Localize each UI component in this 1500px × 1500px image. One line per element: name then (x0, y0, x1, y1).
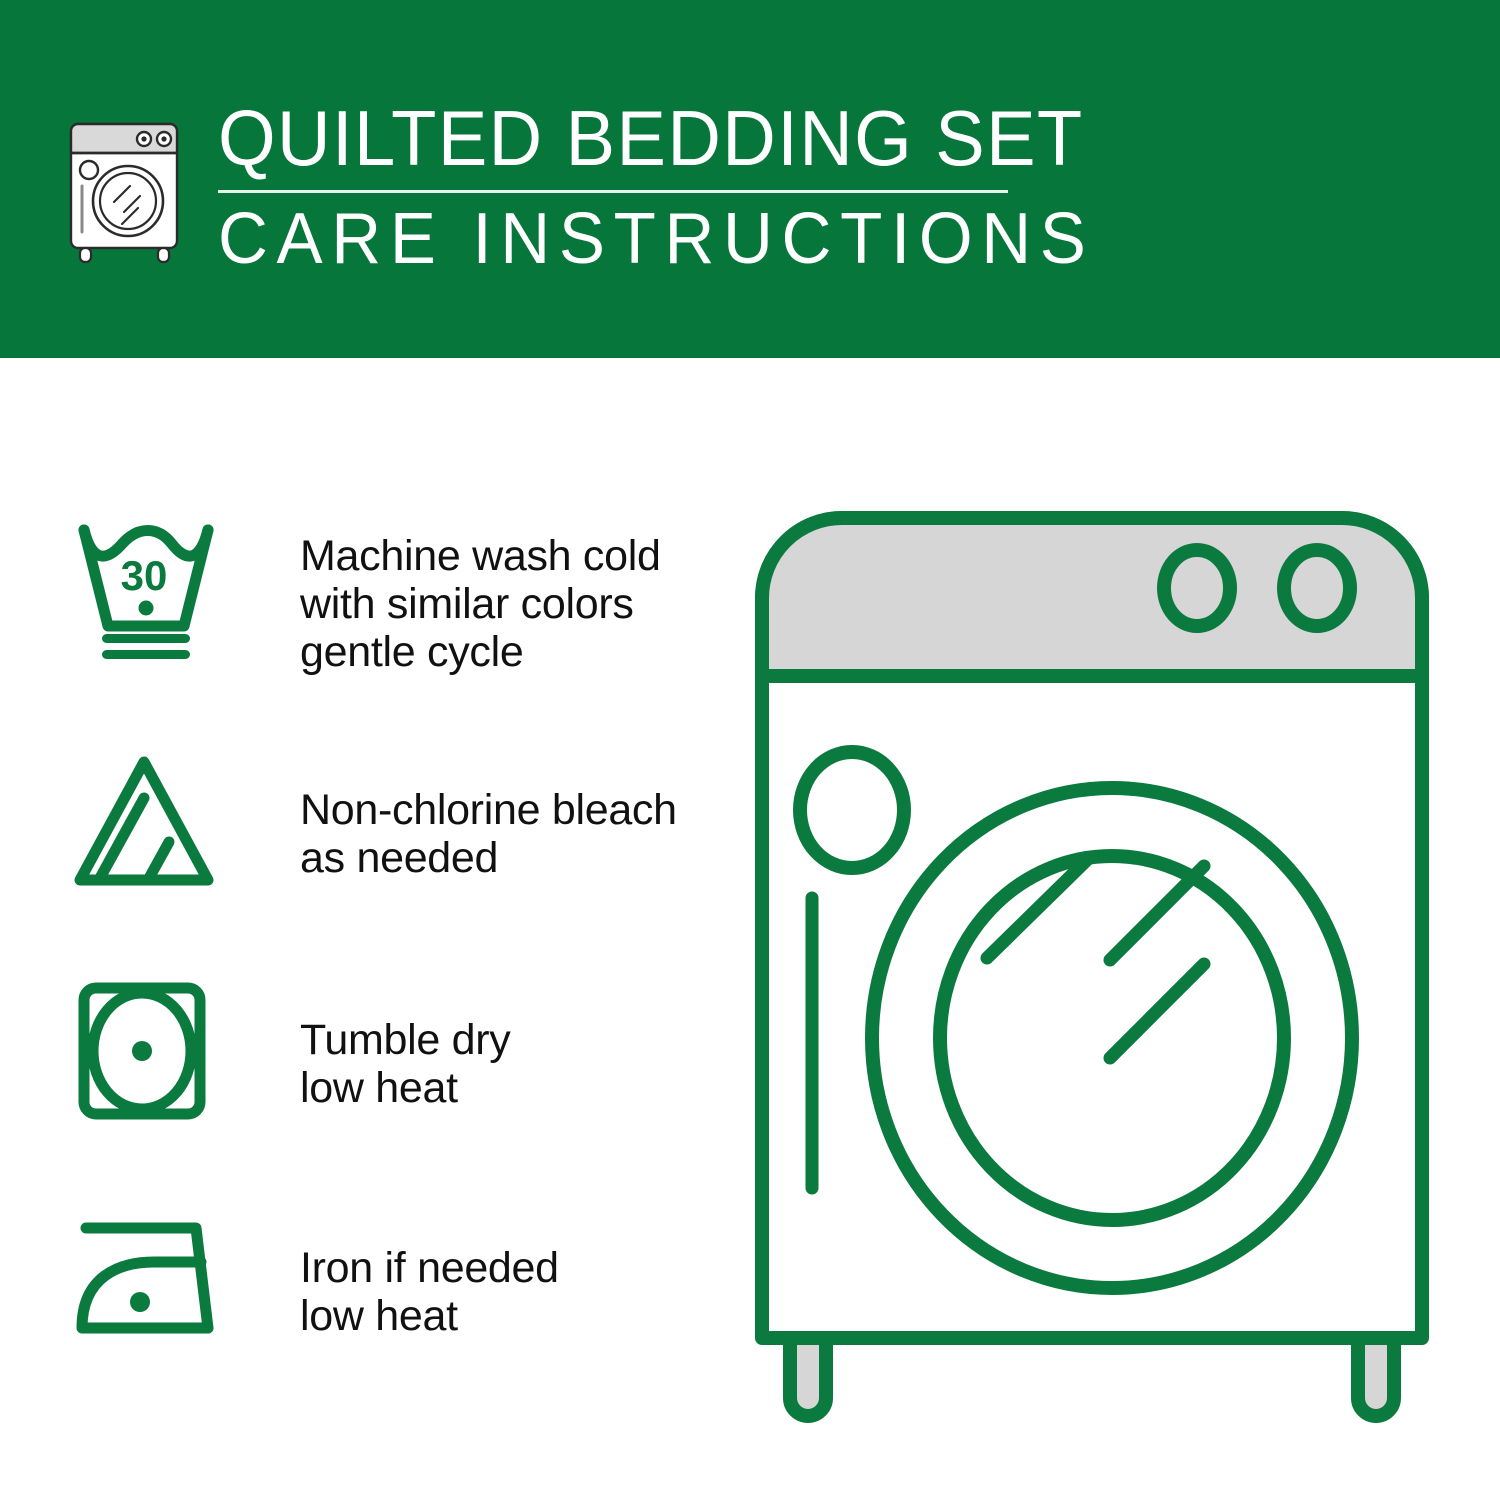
care-line: with similar colors (300, 580, 661, 628)
title-divider (218, 190, 1008, 193)
care-line: Machine wash cold (300, 532, 661, 580)
care-item-label: Iron if needed low heat (300, 1206, 559, 1340)
washing-machine-icon (62, 98, 190, 266)
care-item-machine-wash: 30 Machine wash cold with similar colors… (72, 516, 712, 746)
care-instructions-poster: QUILTED BEDDING SET CARE INSTRUCTIONS 30 (0, 0, 1500, 1500)
header-band: QUILTED BEDDING SET CARE INSTRUCTIONS (0, 0, 1500, 358)
care-item-bleach: Non-chlorine bleach as needed (72, 746, 712, 976)
front-load-washing-machine-illustration (742, 498, 1458, 1438)
care-item-label: Non-chlorine bleach as needed (300, 746, 677, 882)
care-line: low heat (300, 1292, 559, 1340)
care-line: Tumble dry (300, 1016, 510, 1064)
wash-tub-30-gentle-icon: 30 (72, 516, 232, 666)
care-line: gentle cycle (300, 628, 661, 676)
care-item-label: Tumble dry low heat (300, 976, 510, 1112)
page-subtitle: CARE INSTRUCTIONS (218, 203, 1095, 276)
care-item-label: Machine wash cold with similar colors ge… (300, 516, 661, 676)
wash-temp-label: 30 (121, 552, 168, 599)
tumble-dry-low-icon (72, 976, 232, 1126)
care-line: Non-chlorine bleach (300, 786, 677, 834)
care-line: as needed (300, 834, 677, 882)
header-titles: QUILTED BEDDING SET CARE INSTRUCTIONS (218, 98, 1131, 277)
page-title: QUILTED BEDDING SET (218, 100, 1085, 176)
care-instruction-list: 30 Machine wash cold with similar colors… (72, 516, 712, 1436)
header-content: QUILTED BEDDING SET CARE INSTRUCTIONS (62, 98, 1131, 277)
care-item-tumble-dry: Tumble dry low heat (72, 976, 712, 1206)
bleach-triangle-icon (72, 746, 232, 896)
iron-low-heat-icon (72, 1206, 232, 1356)
care-item-iron: Iron if needed low heat (72, 1206, 712, 1436)
care-line: Iron if needed (300, 1244, 559, 1292)
care-line: low heat (300, 1064, 510, 1112)
